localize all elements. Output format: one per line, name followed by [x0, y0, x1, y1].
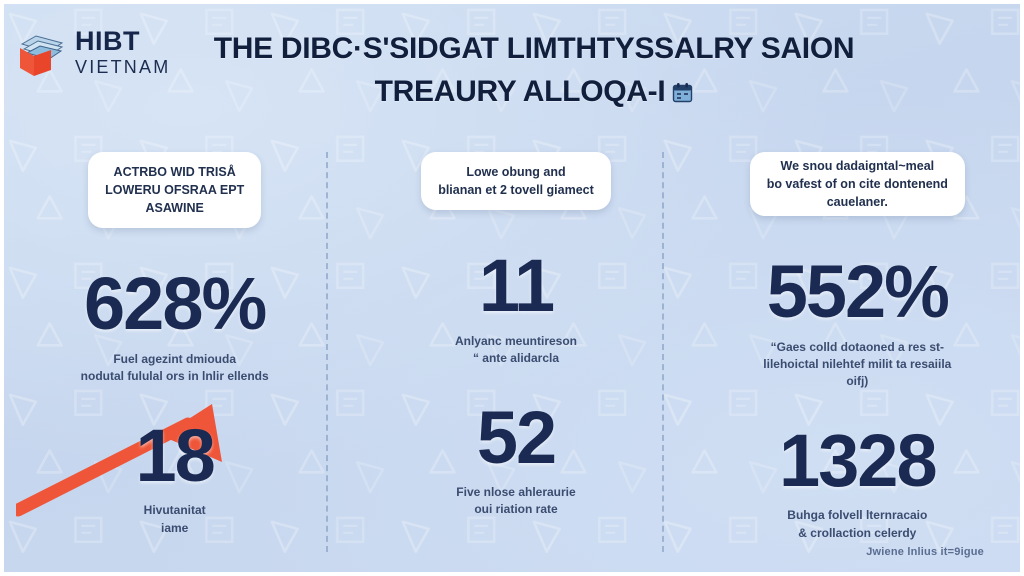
caption-line: oui riation rate [361, 501, 670, 518]
page-title-line-2-wrap: TREAURY ALLOQA-I [375, 71, 694, 114]
stat-caption: Hivutanitat iame [20, 502, 329, 537]
stat-caption: “Gaes colld dotaoned a res st- lilehoict… [703, 339, 1012, 391]
stat-value: 1328 [703, 425, 1012, 498]
caption-line: iame [20, 520, 329, 537]
caption-line: nodutal fululal ors in lnlir ellends [20, 368, 329, 385]
stat-value: 552% [703, 256, 1012, 329]
stat-block-3-bottom: 1328 Buhga folvell lternracaio & crollac… [703, 425, 1012, 542]
caption-line: lilehoictal nilehtef milit ta resaiila [703, 356, 1012, 373]
brand-name: HIBT [75, 28, 170, 55]
label-line: bo vafest of on cite dontenend [767, 175, 948, 193]
caption-line: oifj) [703, 373, 1012, 390]
caption-line: “ ante alidarcla [361, 350, 670, 367]
stat-block-2-bottom: 52 Five nlose ahleraurie oui riation rat… [361, 402, 670, 519]
column-1-label-card: ACTRBO WID TRISÅ LOWERU OFSRAA EPT ASAWI… [88, 152, 261, 228]
caption-line: Hivutanitat [20, 502, 329, 519]
book-stack-icon [18, 28, 66, 78]
stat-block-1-bottom: 18 Hivutanitat iame [20, 420, 329, 537]
label-line: blianan et 2 tovell giamect [438, 181, 594, 199]
label-line: We snou dadaigntal~meal [767, 157, 948, 175]
column-2-label-card: Lowe obung and blianan et 2 tovell giame… [421, 152, 611, 210]
stat-value: 52 [361, 402, 670, 475]
stat-value: 18 [20, 420, 329, 493]
label-line: Lowe obung and [438, 163, 594, 181]
stat-caption: Anlyanc meuntireson “ ante alidarcla [361, 333, 670, 368]
stat-value: 11 [361, 250, 670, 323]
stat-block-2-top: 11 Anlyanc meuntireson “ ante alidarcla [361, 250, 670, 367]
brand-logo-text: HIBT VIETNAM [75, 28, 170, 78]
stats-columns: ACTRBO WID TRISÅ LOWERU OFSRAA EPT ASAWI… [4, 152, 1024, 542]
caption-line: Anlyanc meuntireson [361, 333, 670, 350]
infographic-canvas: HIBT VIETNAM THE DIBC·S'SIDGAT LIMTHTYSS… [0, 0, 1024, 576]
stats-column-1: ACTRBO WID TRISÅ LOWERU OFSRAA EPT ASAWI… [4, 152, 345, 542]
brand-region: VIETNAM [75, 58, 170, 76]
stat-value: 628% [20, 268, 329, 341]
stat-caption: Buhga folvell lternracaio & crollaction … [703, 507, 1012, 542]
page-title-line-2: TREAURY ALLOQA-I [375, 71, 666, 114]
stats-column-3: We snou dadaigntal~meal bo vafest of on … [687, 152, 1024, 542]
stat-block-3-top: 552% “Gaes colld dotaoned a res st- lile… [703, 256, 1012, 391]
footer-note: Jwiene lnlius it=9igue [866, 546, 984, 558]
brand-logo: HIBT VIETNAM [18, 28, 170, 78]
stat-block-1-top: 628% Fuel agezint dmiouda nodutal fulula… [20, 268, 329, 385]
stats-column-2: Lowe obung and blianan et 2 tovell giame… [345, 152, 686, 542]
header: HIBT VIETNAM THE DIBC·S'SIDGAT LIMTHTYSS… [4, 4, 1024, 136]
calendar-icon [672, 82, 693, 103]
label-line: ASAWINE [105, 199, 244, 217]
label-line: ACTRBO WID TRISÅ [105, 163, 244, 181]
stat-caption: Five nlose ahleraurie oui riation rate [361, 484, 670, 519]
label-line: cauelaner. [767, 193, 948, 211]
title-block: THE DIBC·S'SIDGAT LIMTHTYSSALRY SAION TR… [174, 28, 894, 113]
caption-line: Five nlose ahleraurie [361, 484, 670, 501]
label-line: LOWERU OFSRAA EPT [105, 181, 244, 199]
page-title-line-1: THE DIBC·S'SIDGAT LIMTHTYSSALRY SAION [174, 28, 894, 71]
caption-line: Buhga folvell lternracaio [703, 507, 1012, 524]
caption-line: Fuel agezint dmiouda [20, 351, 329, 368]
column-3-label-card: We snou dadaigntal~meal bo vafest of on … [750, 152, 965, 216]
stat-caption: Fuel agezint dmiouda nodutal fululal ors… [20, 351, 329, 386]
caption-line: “Gaes colld dotaoned a res st- [703, 339, 1012, 356]
caption-line: & crollaction celerdy [703, 525, 1012, 542]
